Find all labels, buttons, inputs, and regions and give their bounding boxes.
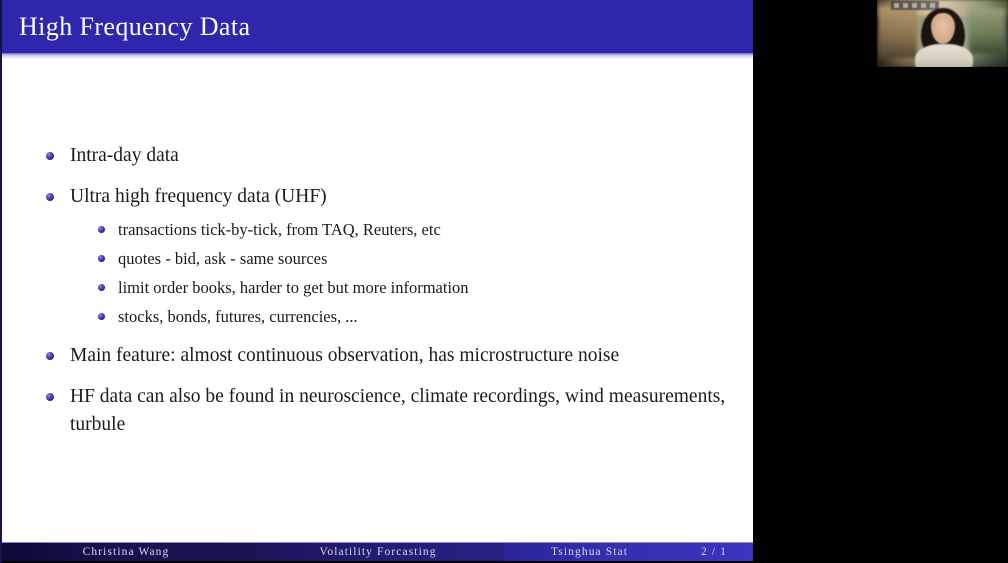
page-title: High Frequency Data (19, 10, 250, 44)
list-item: transactions tick-by-tick, from TAQ, Reu… (98, 217, 718, 242)
footer-institute: Tsinghua Stat (504, 546, 675, 558)
bullet-dot-icon (98, 255, 105, 262)
footer-institute-section: Tsinghua Stat 2 / 1 (504, 543, 753, 561)
bullet-dot-icon (98, 313, 105, 320)
bullet-dot-icon (46, 193, 54, 201)
sub-bullet-list: transactions tick-by-tick, from TAQ, Reu… (98, 217, 718, 329)
presentation-slide: High Frequency Data Intra-day data Ultra… (0, 0, 753, 563)
webcam-overlay-toolbar-icons (894, 3, 936, 8)
slide-left-border (0, 0, 2, 563)
bullet-text: Main feature: almost continuous observat… (70, 342, 736, 370)
bullet-text: Ultra high frequency data (UHF) (70, 183, 736, 211)
list-item: Main feature: almost continuous observat… (46, 342, 736, 370)
sub-bullet-text: quotes - bid, ask - same sources (118, 249, 327, 268)
footer-subject: Volatility Forcasting (252, 543, 504, 561)
slide-footer: Christina Wang Volatility Forcasting Tsi… (0, 543, 753, 561)
webcam-building-right (969, 8, 1005, 54)
list-item: Ultra high frequency data (UHF) transact… (46, 183, 736, 329)
bullet-dot-icon (98, 284, 105, 291)
list-item: Intra-day data (46, 142, 736, 170)
bullet-dot-icon (46, 352, 54, 360)
bullet-text: HF data can also be found in neuroscienc… (70, 383, 736, 439)
footer-author: Christina Wang (0, 543, 252, 561)
webcam-video-tile[interactable] (877, 0, 1008, 67)
webcam-building-left (879, 6, 917, 58)
bullet-text: Intra-day data (70, 142, 736, 170)
list-item: quotes - bid, ask - same sources (98, 246, 718, 271)
sub-bullet-text: stocks, bonds, futures, currencies, ... (118, 307, 358, 326)
bullet-dot-icon (46, 152, 54, 160)
bullet-list: Intra-day data Ultra high frequency data… (46, 142, 736, 452)
slide-title-bar: High Frequency Data (0, 0, 753, 53)
screen-canvas: High Frequency Data Intra-day data Ultra… (0, 0, 1008, 563)
slide-content-body: Intra-day data Ultra high frequency data… (0, 60, 753, 538)
footer-page-number: 2 / 1 (675, 546, 753, 558)
bullet-dot-icon (98, 226, 105, 233)
list-item: limit order books, harder to get but mor… (98, 275, 718, 300)
list-item: stocks, bonds, futures, currencies, ... (98, 304, 718, 329)
webcam-person-body (915, 44, 973, 67)
bullet-dot-icon (46, 393, 54, 401)
list-item: HF data can also be found in neuroscienc… (46, 383, 736, 439)
sub-bullet-text: transactions tick-by-tick, from TAQ, Reu… (118, 220, 441, 239)
sub-bullet-text: limit order books, harder to get but mor… (118, 278, 469, 297)
slide-title-underline (0, 53, 753, 60)
